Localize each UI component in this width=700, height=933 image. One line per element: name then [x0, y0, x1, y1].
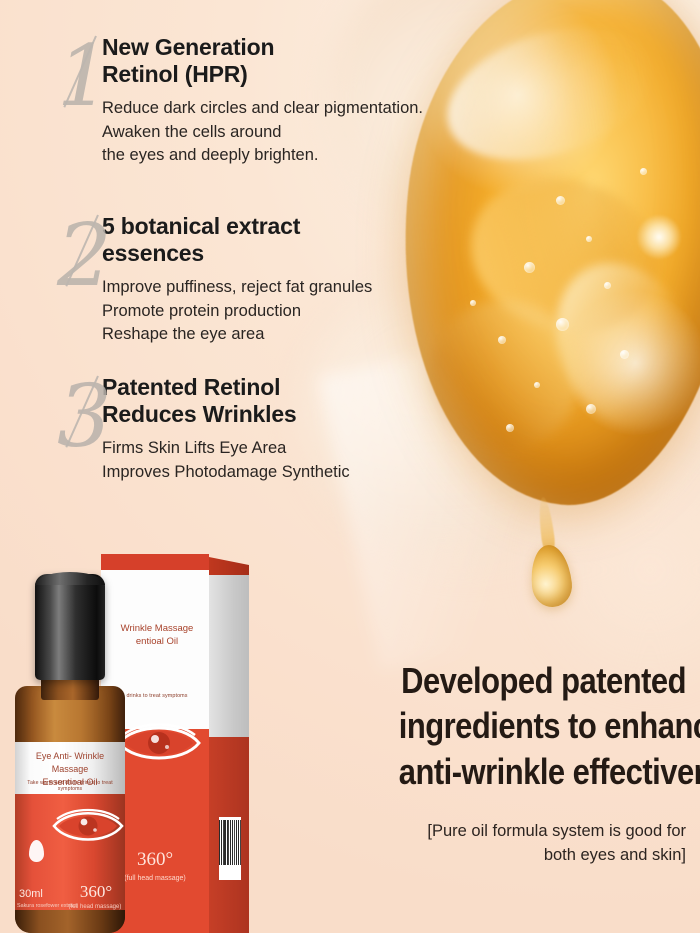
product-bottle: Eye Anti- Wrinkle Massage Essentioal Oil…	[9, 558, 131, 933]
headline-line-3: anti-wrinkle effectiveness	[399, 749, 686, 794]
bottle-rotation-value: 360°	[69, 882, 123, 902]
benefit-item-2: 2 5 botanical extract essences Improve p…	[57, 213, 372, 347]
eye-graphic-icon	[51, 804, 125, 848]
oil-droplet-icon	[528, 543, 574, 609]
bottle-label-fine-print: Take warm and dilute drinks to treat sym…	[15, 780, 125, 792]
bottle-base	[15, 910, 125, 933]
benefit-body-3: Firms Skin Lifts Eye Area Improves Photo…	[102, 437, 350, 484]
benefit-title-2: 5 botanical extract essences	[102, 213, 372, 267]
benefit-title-1: New Generation Retinol (HPR)	[102, 34, 423, 88]
benefit-title-3: Patented Retinol Reduces Wrinkles	[102, 374, 350, 428]
benefit-item-1: 1 New Generation Retinol (HPR) Reduce da…	[57, 34, 423, 168]
gem-glint	[636, 214, 682, 260]
bottle-dropper-cap	[35, 574, 105, 680]
droplet-shape-icon	[29, 840, 44, 862]
benefit-body-2: Improve puffiness, reject fat granules P…	[102, 276, 372, 346]
benefit-number-3: 3	[57, 374, 110, 460]
product-marketing-image: 1 New Generation Retinol (HPR) Reduce da…	[0, 0, 700, 933]
barcode-icon	[219, 817, 241, 880]
headline-line-1: Developed patented	[399, 658, 686, 703]
headline-line-2: ingredients to enhance	[399, 703, 686, 748]
box-top-band-side	[209, 557, 249, 575]
benefit-body-1: Reduce dark circles and clear pigmentati…	[102, 97, 423, 167]
amber-gemstone-icon	[377, 0, 700, 520]
headline-subcaption: [Pure oil formula system is good for bot…	[352, 820, 686, 868]
bottle-volume: 30ml	[19, 888, 43, 900]
headline-block: Developed patented ingredients to enhanc…	[352, 658, 686, 794]
benefit-item-3: 3 Patented Retinol Reduces Wrinkles Firm…	[57, 374, 350, 484]
benefit-number-2: 2	[57, 213, 110, 299]
